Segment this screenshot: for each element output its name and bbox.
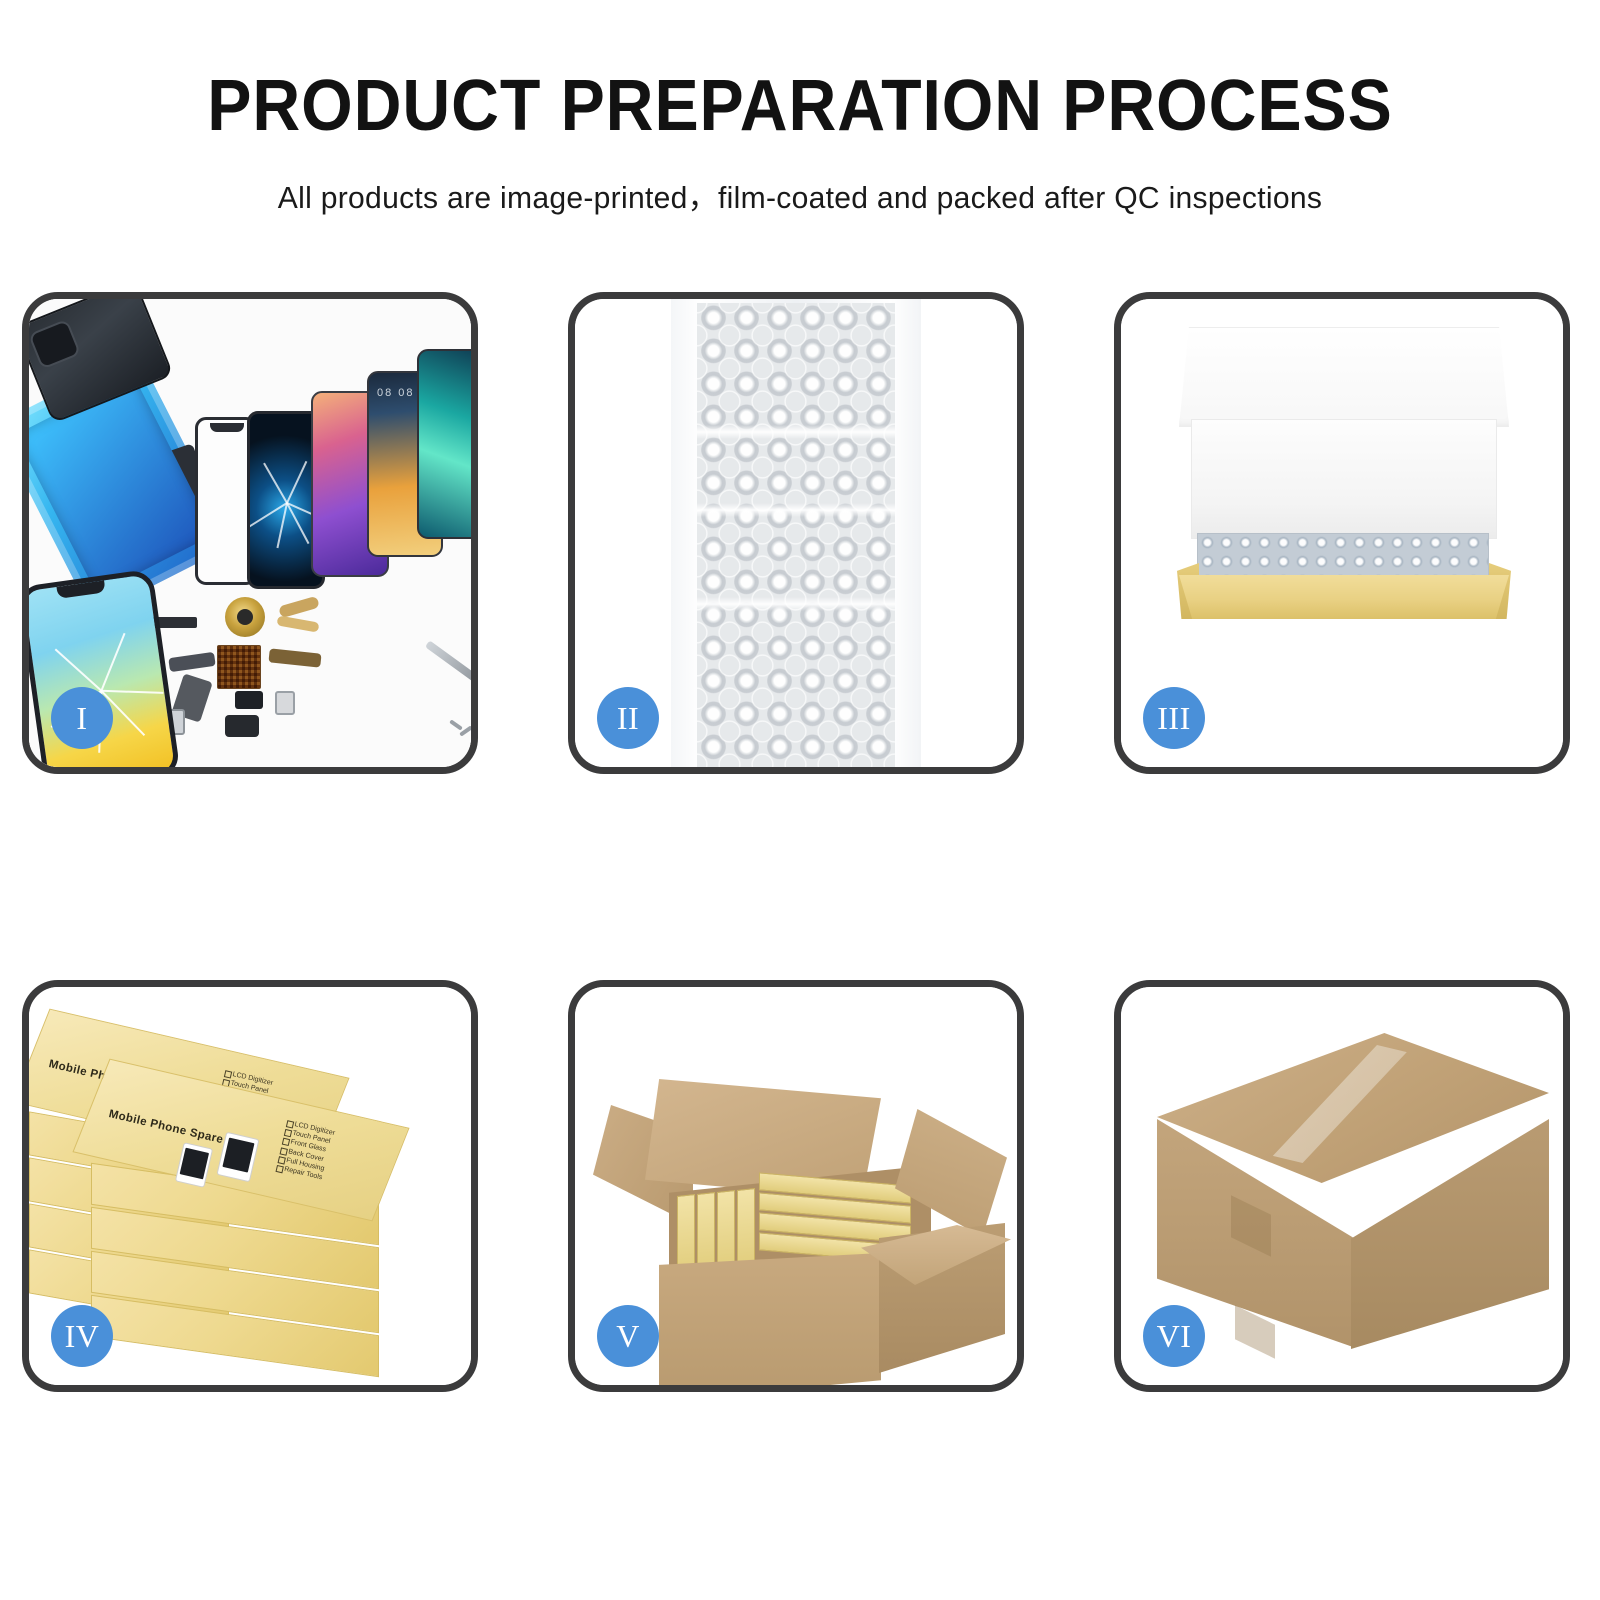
bubble-wrapped-item: [1197, 533, 1489, 581]
step-badge-6: VI: [1143, 1305, 1205, 1367]
bubble-wrap-pouch-icon: [671, 299, 921, 767]
box-lid: [1179, 327, 1509, 427]
box-front-panel: [1179, 575, 1509, 619]
step-badge-3: III: [1143, 687, 1205, 749]
gold-box-in-carton: [717, 1190, 735, 1272]
open-mailer-box-icon: [1169, 327, 1519, 627]
step-badge-1: I: [51, 687, 113, 749]
step-card-5[interactable]: V: [568, 980, 1024, 1392]
step-badge-2: II: [597, 687, 659, 749]
step-card-3[interactable]: III: [1114, 292, 1570, 774]
step-badge-4: IV: [51, 1305, 113, 1367]
sealed-carton-icon: [1135, 1033, 1561, 1363]
step-card-2[interactable]: II: [568, 292, 1024, 774]
phone-display-teal-icon: [417, 349, 471, 539]
camera-module-icon: [235, 691, 263, 709]
phone-clock-label: 08 08: [377, 387, 415, 399]
carton-front-panel: [659, 1253, 881, 1385]
speaker-module-icon: [225, 715, 259, 737]
step-card-1[interactable]: 08 08: [22, 292, 478, 774]
logic-board-chip-icon: [217, 645, 261, 689]
step-badge-5: V: [597, 1305, 659, 1367]
box-back-panel: [1191, 419, 1497, 539]
steps-grid: 08 08: [0, 0, 1600, 1600]
battery-icon: [275, 691, 295, 715]
gold-box-in-carton: [737, 1188, 755, 1270]
step-card-4[interactable]: Mobile Phone Spare Parts LCD Digitizer T…: [22, 980, 478, 1392]
product-preparation-infographic: PRODUCT PREPARATION PROCESS All products…: [0, 0, 1600, 1600]
bubble-field: [697, 303, 895, 767]
gold-box-in-carton: [697, 1192, 715, 1274]
wireless-charging-coil-icon: [225, 597, 265, 637]
step-card-6[interactable]: VI: [1114, 980, 1570, 1392]
